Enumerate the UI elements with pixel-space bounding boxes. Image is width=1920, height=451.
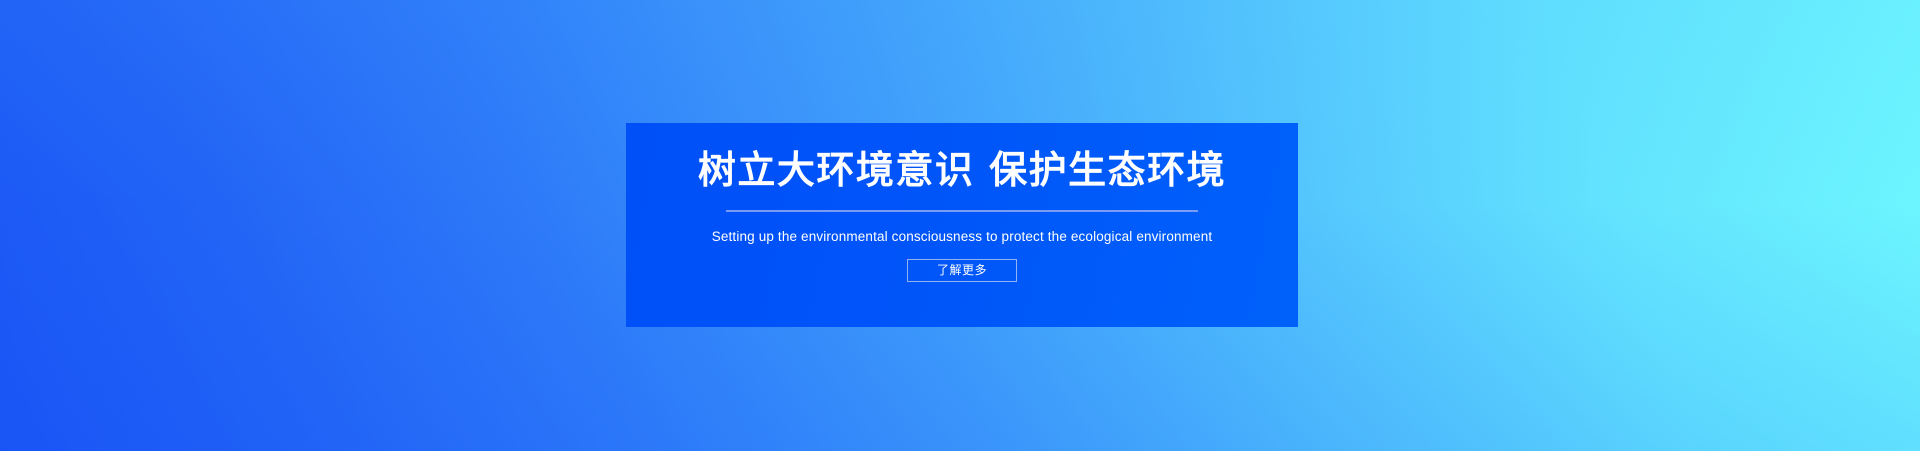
page-subtitle: Setting up the environmental consciousne… xyxy=(712,212,1213,246)
cta-container: 了解更多 xyxy=(907,259,1017,282)
page-title: 树立大环境意识 保护生态环境 xyxy=(698,123,1226,193)
title-divider xyxy=(726,210,1198,212)
hero-content-panel: 树立大环境意识 保护生态环境 Setting up the environmen… xyxy=(626,123,1298,327)
learn-more-button[interactable]: 了解更多 xyxy=(907,259,1017,282)
hero-banner: 树立大环境意识 保护生态环境 Setting up the environmen… xyxy=(0,0,1920,451)
